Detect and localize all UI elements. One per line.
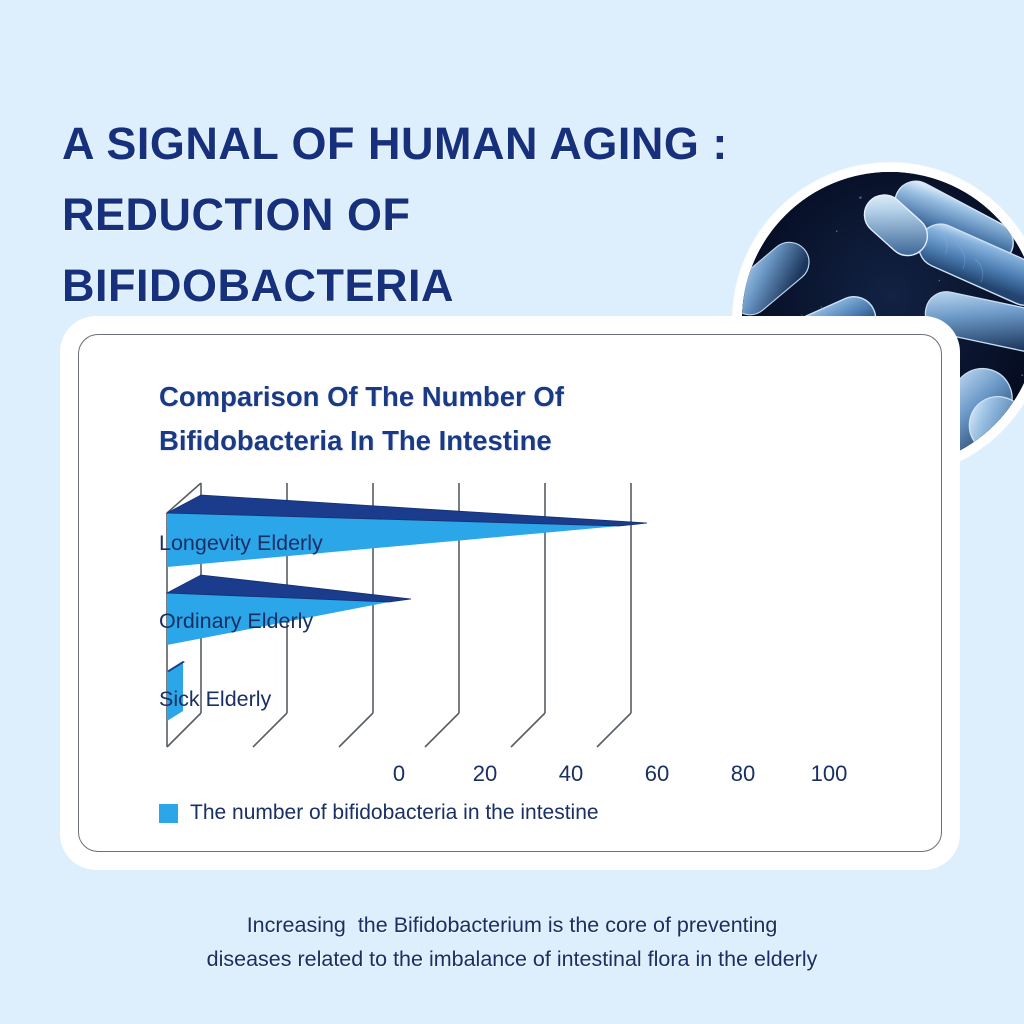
chart-card: Comparison Of The Number Of Bifidobacter…: [70, 326, 950, 860]
xtick-label-40: 40: [536, 761, 606, 787]
headline-line-3: BIFIDOBACTERIA: [62, 250, 762, 321]
page-title: A SIGNAL OF HUMAN AGING : REDUCTION OF B…: [62, 108, 762, 321]
footer-line-2: diseases related to the imbalance of int…: [0, 942, 1024, 976]
xtick-label-100: 100: [794, 761, 864, 787]
footer-caption: Increasing the Bifidobacterium is the co…: [0, 908, 1024, 976]
legend-swatch-icon: [159, 804, 178, 823]
xtick-label-0: 0: [364, 761, 434, 787]
chart-legend: The number of bifidobacteria in the inte…: [159, 801, 599, 825]
bar-chart-plot: [149, 475, 939, 805]
xtick-label-60: 60: [622, 761, 692, 787]
footer-line-1: Increasing the Bifidobacterium is the co…: [0, 908, 1024, 942]
legend-label: The number of bifidobacteria in the inte…: [190, 801, 599, 825]
category-label-sick-elderly: Sick Elderly: [159, 687, 271, 712]
category-label-longevity-elderly: Longevity Elderly: [159, 531, 323, 556]
chart-title: Comparison Of The Number Of Bifidobacter…: [159, 375, 779, 463]
xtick-label-20: 20: [450, 761, 520, 787]
chart-title-line-1: Comparison Of The Number Of: [159, 375, 779, 419]
headline-line-2: REDUCTION OF: [62, 179, 762, 250]
xtick-label-80: 80: [708, 761, 778, 787]
chart-svg: [149, 475, 939, 805]
chart-card-border: Comparison Of The Number Of Bifidobacter…: [78, 334, 942, 852]
headline-line-1: A SIGNAL OF HUMAN AGING :: [62, 108, 762, 179]
chart-title-line-2: Bifidobacteria In The Intestine: [159, 419, 779, 463]
chart-depth-lines: [167, 713, 631, 747]
category-label-ordinary-elderly: Ordinary Elderly: [159, 609, 313, 634]
infographic-canvas: A SIGNAL OF HUMAN AGING : REDUCTION OF B…: [0, 0, 1024, 1024]
